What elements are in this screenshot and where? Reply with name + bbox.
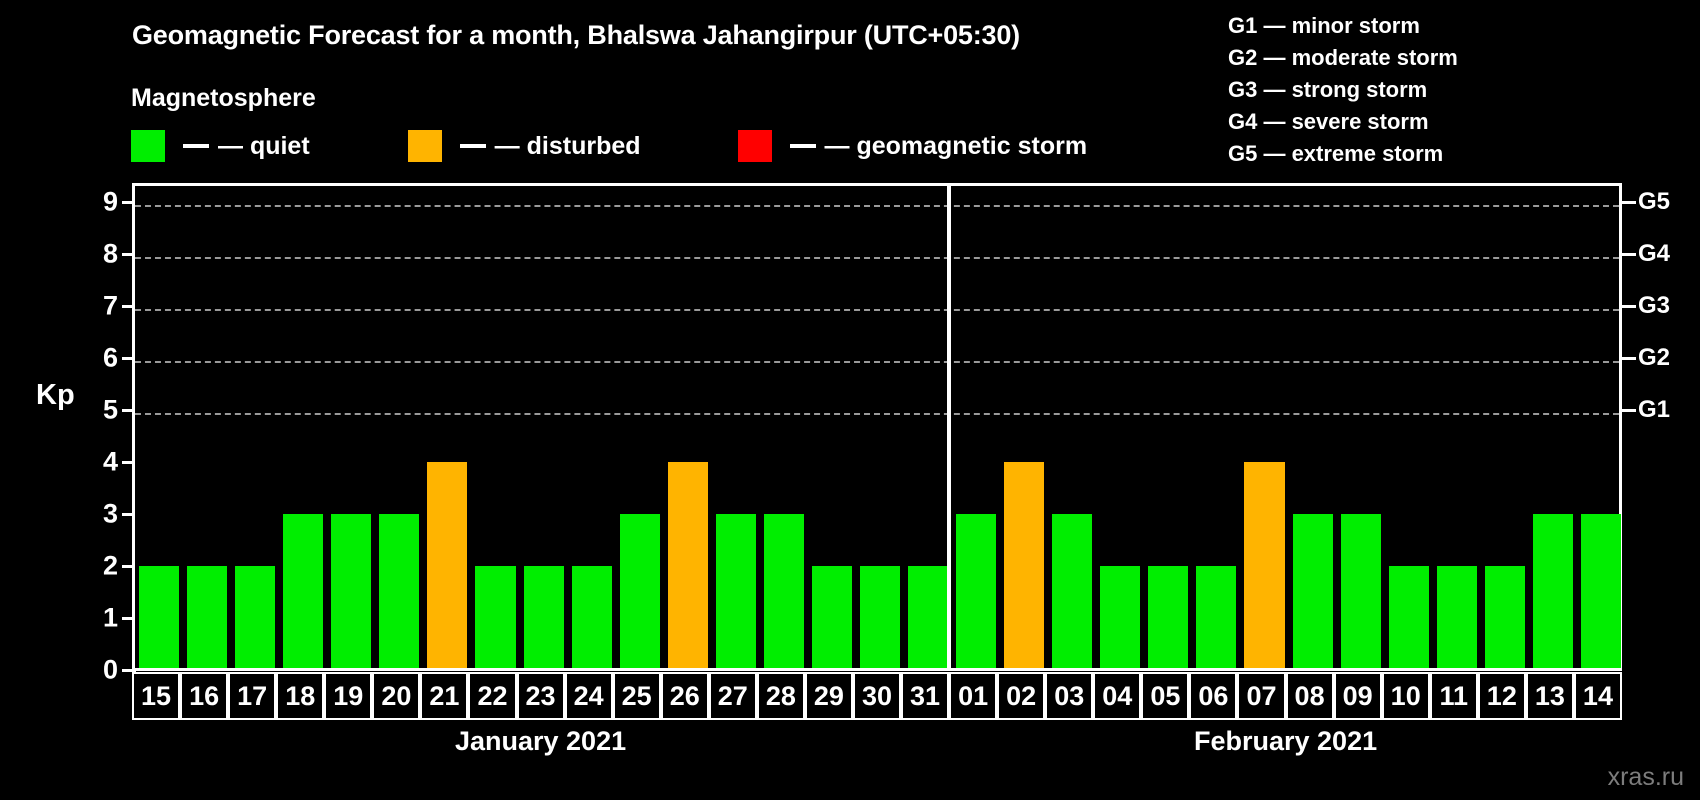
day-label: 08 [1295, 683, 1325, 710]
g-scale-item: G5 — extreme storm [1228, 138, 1458, 170]
bar[interactable] [1581, 514, 1621, 670]
day-label: 04 [1102, 683, 1132, 710]
month-label: February 2021 [1194, 726, 1377, 757]
day-label: 22 [477, 683, 507, 710]
day-label: 20 [381, 683, 411, 710]
g-tick-mark [1622, 409, 1636, 412]
day-label-box[interactable]: 16 [180, 672, 228, 720]
day-label: 29 [814, 683, 844, 710]
g-scale-legend: G1 — minor storm G2 — moderate storm G3 … [1228, 10, 1458, 170]
day-label-box[interactable]: 31 [901, 672, 949, 720]
bar[interactable] [1437, 566, 1477, 670]
plot-area [132, 183, 1622, 670]
day-label-box[interactable]: 29 [805, 672, 853, 720]
g-tick-mark [1622, 253, 1636, 256]
chart-root: Geomagnetic Forecast for a month, Bhalsw… [0, 0, 1700, 800]
day-label-box[interactable]: 07 [1237, 672, 1285, 720]
bar[interactable] [1533, 514, 1573, 670]
day-label: 27 [718, 683, 748, 710]
day-label-box[interactable]: 15 [132, 672, 180, 720]
day-label-box[interactable]: 27 [709, 672, 757, 720]
month-label: January 2021 [455, 726, 626, 757]
day-label: 30 [862, 683, 892, 710]
y-tick-label: 7 [60, 291, 118, 322]
g-scale-item: G2 — moderate storm [1228, 42, 1458, 74]
day-label: 10 [1391, 683, 1421, 710]
y-tick-label: 9 [60, 187, 118, 218]
day-label: 02 [1006, 683, 1036, 710]
day-label-box[interactable]: 30 [853, 672, 901, 720]
legend-dash-icon [790, 144, 816, 148]
day-label: 15 [141, 683, 171, 710]
day-label: 03 [1054, 683, 1084, 710]
bar[interactable] [475, 566, 515, 670]
y-axis-ticks: 0123456789 [60, 0, 118, 800]
bar[interactable] [1004, 462, 1044, 670]
day-label: 19 [333, 683, 363, 710]
day-label: 14 [1583, 683, 1613, 710]
day-label: 31 [910, 683, 940, 710]
day-label-box[interactable]: 02 [997, 672, 1045, 720]
day-label-strip: 1516171819202122232425262728293031010203… [132, 672, 1622, 720]
day-label: 28 [766, 683, 796, 710]
g-tick-label: G2 [1638, 344, 1670, 372]
bar[interactable] [283, 514, 323, 670]
day-label-box[interactable]: 09 [1334, 672, 1382, 720]
day-label: 09 [1343, 683, 1373, 710]
month-divider [947, 183, 951, 670]
day-label: 12 [1487, 683, 1517, 710]
day-label: 01 [958, 683, 988, 710]
legend-swatch-storm [738, 130, 772, 162]
day-label: 11 [1439, 683, 1468, 710]
day-label: 18 [285, 683, 315, 710]
day-label: 07 [1246, 683, 1276, 710]
bar[interactable] [764, 514, 804, 670]
day-label-box[interactable]: 04 [1093, 672, 1141, 720]
day-label-box[interactable]: 11 [1430, 672, 1478, 720]
day-label-box[interactable]: 01 [949, 672, 997, 720]
bar[interactable] [1052, 514, 1092, 670]
legend-item-storm: — geomagnetic storm [738, 130, 1088, 162]
day-label-box[interactable]: 25 [613, 672, 661, 720]
bar[interactable] [1148, 566, 1188, 670]
x-axis-line [132, 668, 1622, 671]
day-label-box[interactable]: 03 [1045, 672, 1093, 720]
g-axis-ticks: G1G2G3G4G5 [1638, 0, 1698, 800]
g-scale-item: G3 — strong storm [1228, 74, 1458, 106]
y-tick-label: 3 [60, 499, 118, 530]
g-tick-mark [1622, 305, 1636, 308]
day-label: 23 [526, 683, 556, 710]
day-label-box[interactable]: 05 [1141, 672, 1189, 720]
day-label-box[interactable]: 08 [1286, 672, 1334, 720]
bar[interactable] [1244, 462, 1284, 670]
legend-label-quiet: — quiet [218, 132, 310, 161]
y-tick-label: 4 [60, 447, 118, 478]
day-label-box[interactable]: 24 [565, 672, 613, 720]
g-tick-label: G3 [1638, 292, 1670, 320]
g-scale-item: G1 — minor storm [1228, 10, 1458, 42]
bar[interactable] [1485, 566, 1525, 670]
day-label-box[interactable]: 06 [1189, 672, 1237, 720]
day-label-box[interactable]: 21 [420, 672, 468, 720]
y-tick-label: 8 [60, 239, 118, 270]
bar[interactable] [1341, 514, 1381, 670]
bar[interactable] [139, 566, 179, 670]
bar[interactable] [379, 514, 419, 670]
legend-swatch-disturbed [408, 130, 442, 162]
day-label: 06 [1198, 683, 1228, 710]
day-label: 05 [1150, 683, 1180, 710]
bar[interactable] [908, 566, 948, 670]
day-label: 24 [574, 683, 604, 710]
legend-label-storm: — geomagnetic storm [825, 132, 1088, 161]
legend-item-disturbed: — disturbed [408, 130, 641, 162]
g-tick-label: G1 [1638, 396, 1670, 424]
day-label-box[interactable]: 20 [372, 672, 420, 720]
g-tick-label: G4 [1638, 240, 1670, 268]
day-label-box[interactable]: 12 [1478, 672, 1526, 720]
day-label-box[interactable]: 18 [276, 672, 324, 720]
g-tick-label: G5 [1638, 188, 1670, 216]
bar[interactable] [812, 566, 852, 670]
bar[interactable] [427, 462, 467, 670]
page-title: Geomagnetic Forecast for a month, Bhalsw… [132, 20, 1020, 51]
bar[interactable] [956, 514, 996, 670]
g-tick-mark [1622, 201, 1636, 204]
bar[interactable] [668, 462, 708, 670]
bar[interactable] [1389, 566, 1429, 670]
y-tick-label: 2 [60, 551, 118, 582]
day-label-box[interactable]: 26 [661, 672, 709, 720]
bar[interactable] [860, 566, 900, 670]
day-label-box[interactable]: 28 [757, 672, 805, 720]
bar[interactable] [1196, 566, 1236, 670]
day-label-box[interactable]: 22 [468, 672, 516, 720]
legend-swatch-quiet [131, 130, 165, 162]
y-tick-label: 0 [60, 655, 118, 686]
bar[interactable] [187, 566, 227, 670]
legend-item-quiet: — quiet [131, 130, 310, 162]
bar[interactable] [620, 514, 660, 670]
day-label: 21 [429, 683, 459, 710]
legend-dash-icon [183, 144, 209, 148]
magnetosphere-legend: — quiet — disturbed — geomagnetic storm [131, 130, 1087, 162]
day-label: 13 [1535, 683, 1565, 710]
y-tick-label: 5 [60, 395, 118, 426]
day-label: 26 [670, 683, 700, 710]
plot-inner [135, 186, 1619, 670]
legend-label-disturbed: — disturbed [495, 132, 641, 161]
day-label-box[interactable]: 10 [1382, 672, 1430, 720]
bar[interactable] [331, 514, 371, 670]
y-tick-label: 6 [60, 343, 118, 374]
g-tick-mark [1622, 357, 1636, 360]
day-label-box[interactable]: 17 [228, 672, 276, 720]
y-tick-label: 1 [60, 603, 118, 634]
day-label-box[interactable]: 13 [1526, 672, 1574, 720]
day-label-box[interactable]: 23 [517, 672, 565, 720]
bar[interactable] [524, 566, 564, 670]
bar[interactable] [1100, 566, 1140, 670]
bar-series [135, 186, 1619, 670]
day-label: 17 [237, 683, 267, 710]
bar[interactable] [1293, 514, 1333, 670]
day-label: 25 [622, 683, 652, 710]
magnetosphere-label: Magnetosphere [131, 84, 316, 113]
g-scale-item: G4 — severe storm [1228, 106, 1458, 138]
bar[interactable] [572, 566, 612, 670]
watermark: xras.ru [1608, 763, 1684, 792]
bar[interactable] [716, 514, 756, 670]
day-label-box[interactable]: 14 [1574, 672, 1622, 720]
bar[interactable] [235, 566, 275, 670]
legend-dash-icon [460, 144, 486, 148]
day-label-box[interactable]: 19 [324, 672, 372, 720]
day-label: 16 [189, 683, 219, 710]
